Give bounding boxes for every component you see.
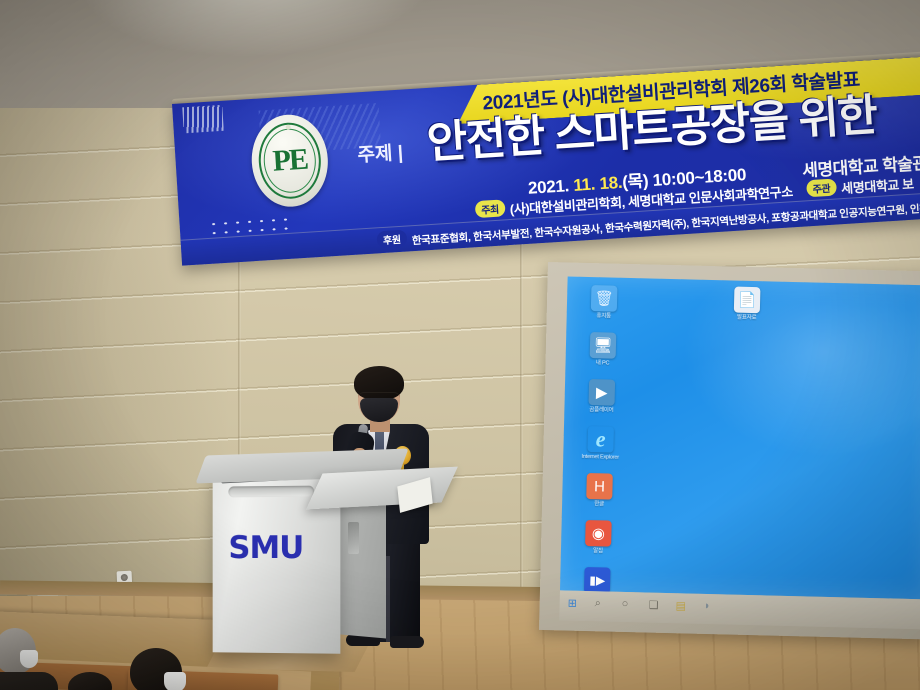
banner-hatch-decoration (182, 105, 224, 133)
projection-screen: 🗑 휴지통 🖥 내 PC ▶ 곰플레이어 e Internet Explorer… (539, 262, 920, 639)
conference-hall-photo: 🗑 휴지통 🖥 내 PC ▶ 곰플레이어 e Internet Explorer… (0, 0, 920, 690)
desktop-icon-label: 내 PC (573, 360, 631, 367)
desktop-icon-label: 한글 (570, 501, 628, 508)
podium-slot (348, 522, 359, 554)
internet-explorer-icon: e (587, 426, 614, 453)
banner-subject-label: 주제 | (357, 138, 404, 168)
desktop-icon-label: 알집 (569, 548, 627, 555)
wall-seam (520, 230, 523, 610)
speaker-leg-split (386, 556, 390, 642)
audience-member (0, 628, 36, 674)
hancom-office-icon: H (586, 473, 613, 500)
sponsor-chip: 후원 (376, 230, 407, 249)
desktop-icon[interactable]: ▶ 곰플레이어 (572, 379, 631, 414)
screen-surface[interactable]: 🗑 휴지통 🖥 내 PC ▶ 곰플레이어 e Internet Explorer… (560, 276, 920, 599)
date-day: 18. (599, 173, 623, 193)
desktop-icon[interactable]: 🗑 휴지통 (575, 285, 634, 320)
desktop-icon-label: 휴지통 (575, 313, 633, 320)
task-view-icon[interactable]: ❏ (648, 599, 661, 612)
desktop-icon-label: 곰플레이어 (572, 407, 630, 414)
audience-face-mask (20, 650, 38, 668)
pdf-document-icon: 📄 (734, 287, 761, 314)
audience-shoulders (0, 672, 58, 690)
audience-face-mask (164, 672, 186, 690)
date-month: 11. (573, 174, 600, 195)
desktop-icon-column: 🗑 휴지통 🖥 내 PC ▶ 곰플레이어 e Internet Explorer… (567, 285, 633, 600)
search-icon[interactable]: ⌕ (595, 597, 608, 610)
my-computer-icon: 🖥 (590, 332, 617, 359)
media-player-icon: ▶ (589, 379, 616, 406)
zoom-app-icon: ▮▶ (584, 567, 611, 594)
organizer-chip: 주관 (806, 178, 837, 197)
emblem-letters: PE (251, 141, 329, 180)
desktop-icon[interactable]: e Internet Explorer (571, 426, 630, 461)
alzip-icon: ◉ (585, 520, 612, 547)
recycle-bin-icon: 🗑 (591, 285, 618, 312)
audience-member (130, 648, 182, 690)
desktop-icon[interactable]: H 한글 (570, 473, 629, 508)
audience-head (68, 672, 112, 690)
podium-logo: SMU (228, 530, 324, 566)
speaker-shoe (390, 636, 424, 648)
podium-handle (228, 486, 314, 498)
desktop-icon[interactable]: ◉ 알집 (569, 520, 628, 555)
file-explorer-icon[interactable]: ▤ (675, 599, 688, 612)
cortana-icon[interactable]: ○ (621, 598, 634, 611)
audience-member (68, 672, 112, 690)
organizer-text: 세명대학교 보 (841, 177, 914, 197)
host-chip: 주최 (475, 199, 506, 218)
desktop-icon-label: Internet Explorer (571, 454, 629, 461)
chrome-icon[interactable]: ◑ (702, 600, 715, 613)
desktop-icon[interactable]: 🖥 내 PC (573, 332, 632, 367)
desktop-icon[interactable]: 📄 발표자료 (715, 286, 780, 322)
windows-start-icon[interactable]: ⊞ (568, 597, 581, 610)
